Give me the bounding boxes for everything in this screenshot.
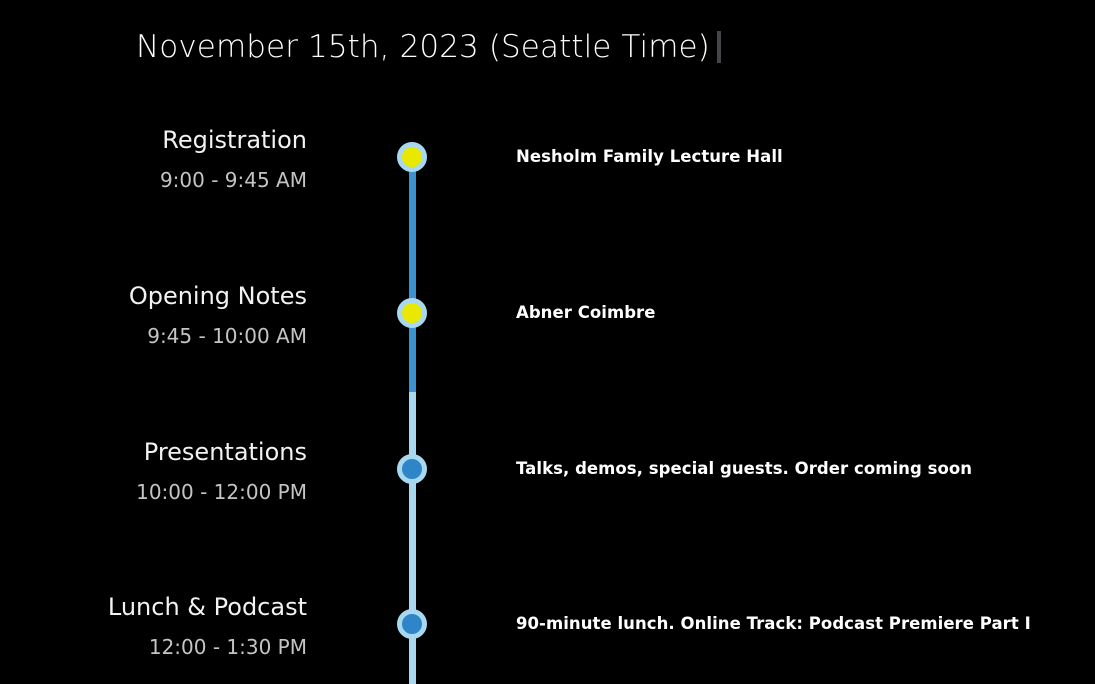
timeline-item-description: 90-minute lunch. Online Track: Podcast P… [516, 613, 1031, 635]
timeline-marker-upcoming[interactable] [397, 609, 427, 639]
timeline-item-time: 9:00 - 9:45 AM [0, 166, 307, 194]
timeline-item-description: Nesholm Family Lecture Hall [516, 146, 783, 168]
timeline-item-time: 9:45 - 10:00 AM [0, 322, 307, 350]
schedule-page: November 15th, 2023 (Seattle Time) Regis… [0, 0, 1095, 684]
timeline-item-left: Registration9:00 - 9:45 AM [0, 125, 307, 194]
timeline-item-title: Opening Notes [0, 281, 307, 311]
timeline-rail-progress [409, 157, 416, 392]
timeline-marker-upcoming[interactable] [397, 454, 427, 484]
timeline-item-time: 12:00 - 1:30 PM [0, 633, 307, 661]
timeline-marker-done[interactable] [397, 142, 427, 172]
timeline-marker-done[interactable] [397, 298, 427, 328]
timeline-item-time: 10:00 - 12:00 PM [0, 478, 307, 506]
timeline-item-description: Abner Coimbre [516, 302, 655, 324]
timeline-item-description: Talks, demos, special guests. Order comi… [516, 458, 972, 480]
timeline-item-left: Lunch & Podcast12:00 - 1:30 PM [0, 592, 307, 661]
timeline-item-title: Lunch & Podcast [0, 592, 307, 622]
timeline-item-title: Presentations [0, 437, 307, 467]
timeline-item-left: Opening Notes9:45 - 10:00 AM [0, 281, 307, 350]
schedule-timeline: Registration9:00 - 9:45 AMNesholm Family… [0, 0, 1095, 684]
timeline-item-left: Presentations10:00 - 12:00 PM [0, 437, 307, 506]
timeline-item-title: Registration [0, 125, 307, 155]
